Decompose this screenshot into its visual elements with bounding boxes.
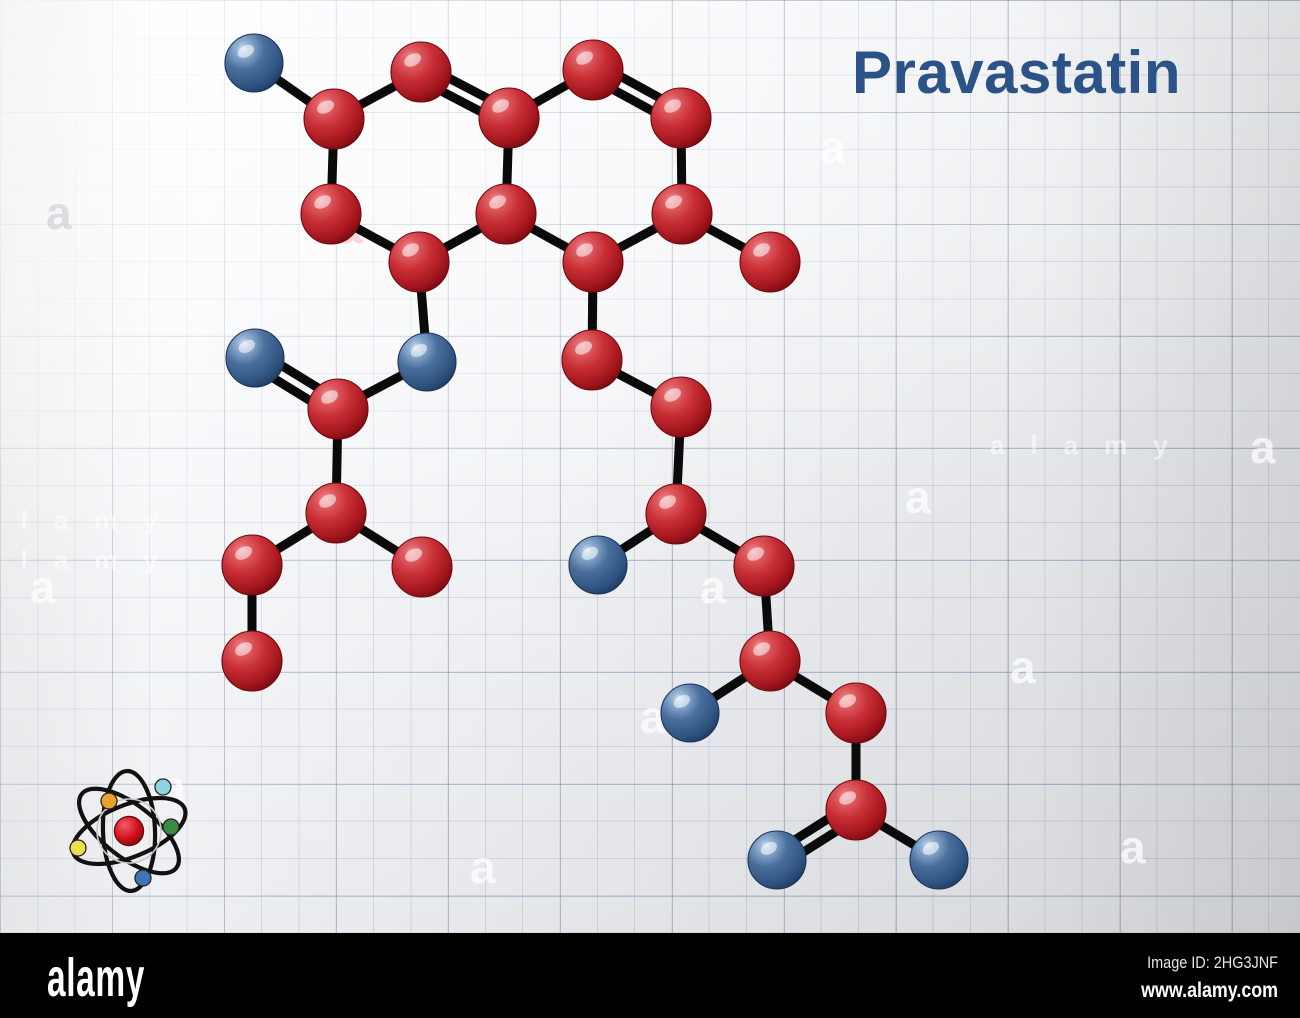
atom-chain-carbon	[562, 330, 622, 390]
image-id-label: Image ID: 2HG3JNF	[1147, 953, 1278, 973]
atom-ring-carbon-fusion-top	[479, 88, 539, 148]
page-title: Pravastatin	[852, 38, 1181, 107]
atom-ring-carbon	[304, 89, 364, 149]
atom-methyl-carbon	[392, 537, 452, 597]
atom-chain-carbinol-carbon	[740, 631, 800, 691]
electron-4	[135, 870, 151, 886]
atom-ring-carbon	[563, 40, 623, 100]
atom-carboxyl-hydroxyl-oxygen	[910, 831, 968, 889]
atom-hydroxyl-oxygen	[661, 684, 719, 742]
atom-chain-carbon	[826, 683, 886, 743]
atom-chain-carbinol-carbon	[646, 484, 706, 544]
atom-ring-carbon	[651, 88, 711, 148]
atom-chain-carbon	[651, 377, 711, 437]
atom-ester-carbonyl-carbon	[308, 379, 368, 439]
atom-carbonyl-oxygen	[226, 329, 284, 387]
atom-ring-carbon	[652, 184, 712, 244]
website-label[interactable]: www.alamy.com	[1141, 979, 1278, 1003]
atom-nucleus	[115, 817, 144, 846]
atom-methine-carbon	[306, 483, 366, 543]
stock-photo-page: aaaaaaaaaaaaaaalamyalamyalamy	[0, 0, 1300, 1018]
alamy-footer-bar: alamy Image ID: 2HG3JNF www.alamy.com	[0, 933, 1300, 1018]
atom-ester-oxygen	[398, 333, 456, 391]
atom-hydroxyl-oxygen-ring	[225, 34, 283, 92]
bond-layer	[251, 63, 939, 866]
atom-icon	[62, 762, 197, 897]
atom-methyl-carbon	[740, 232, 800, 292]
atom-ring-carbon	[391, 42, 451, 102]
atom-carboxyl-double-bond-oxygen	[748, 831, 806, 889]
atom-ring-carbon	[389, 232, 449, 292]
atom-ring-carbon-fusion-bottom	[563, 232, 623, 292]
electron-0	[101, 793, 117, 809]
atom-ring-carbon-fusion	[476, 184, 536, 244]
atom-terminal-methyl-carbon	[222, 631, 282, 691]
electron-2	[163, 819, 179, 835]
electron-1	[155, 779, 171, 795]
atom-chain-carbon	[734, 536, 794, 596]
atom-methylene-carbon	[222, 535, 282, 595]
atom-hydroxyl-oxygen	[569, 536, 627, 594]
alamy-logo[interactable]: alamy	[47, 947, 145, 1009]
electron-3	[70, 840, 86, 856]
atom-carboxyl-carbon	[826, 780, 886, 840]
atom-ring-carbon	[301, 184, 361, 244]
